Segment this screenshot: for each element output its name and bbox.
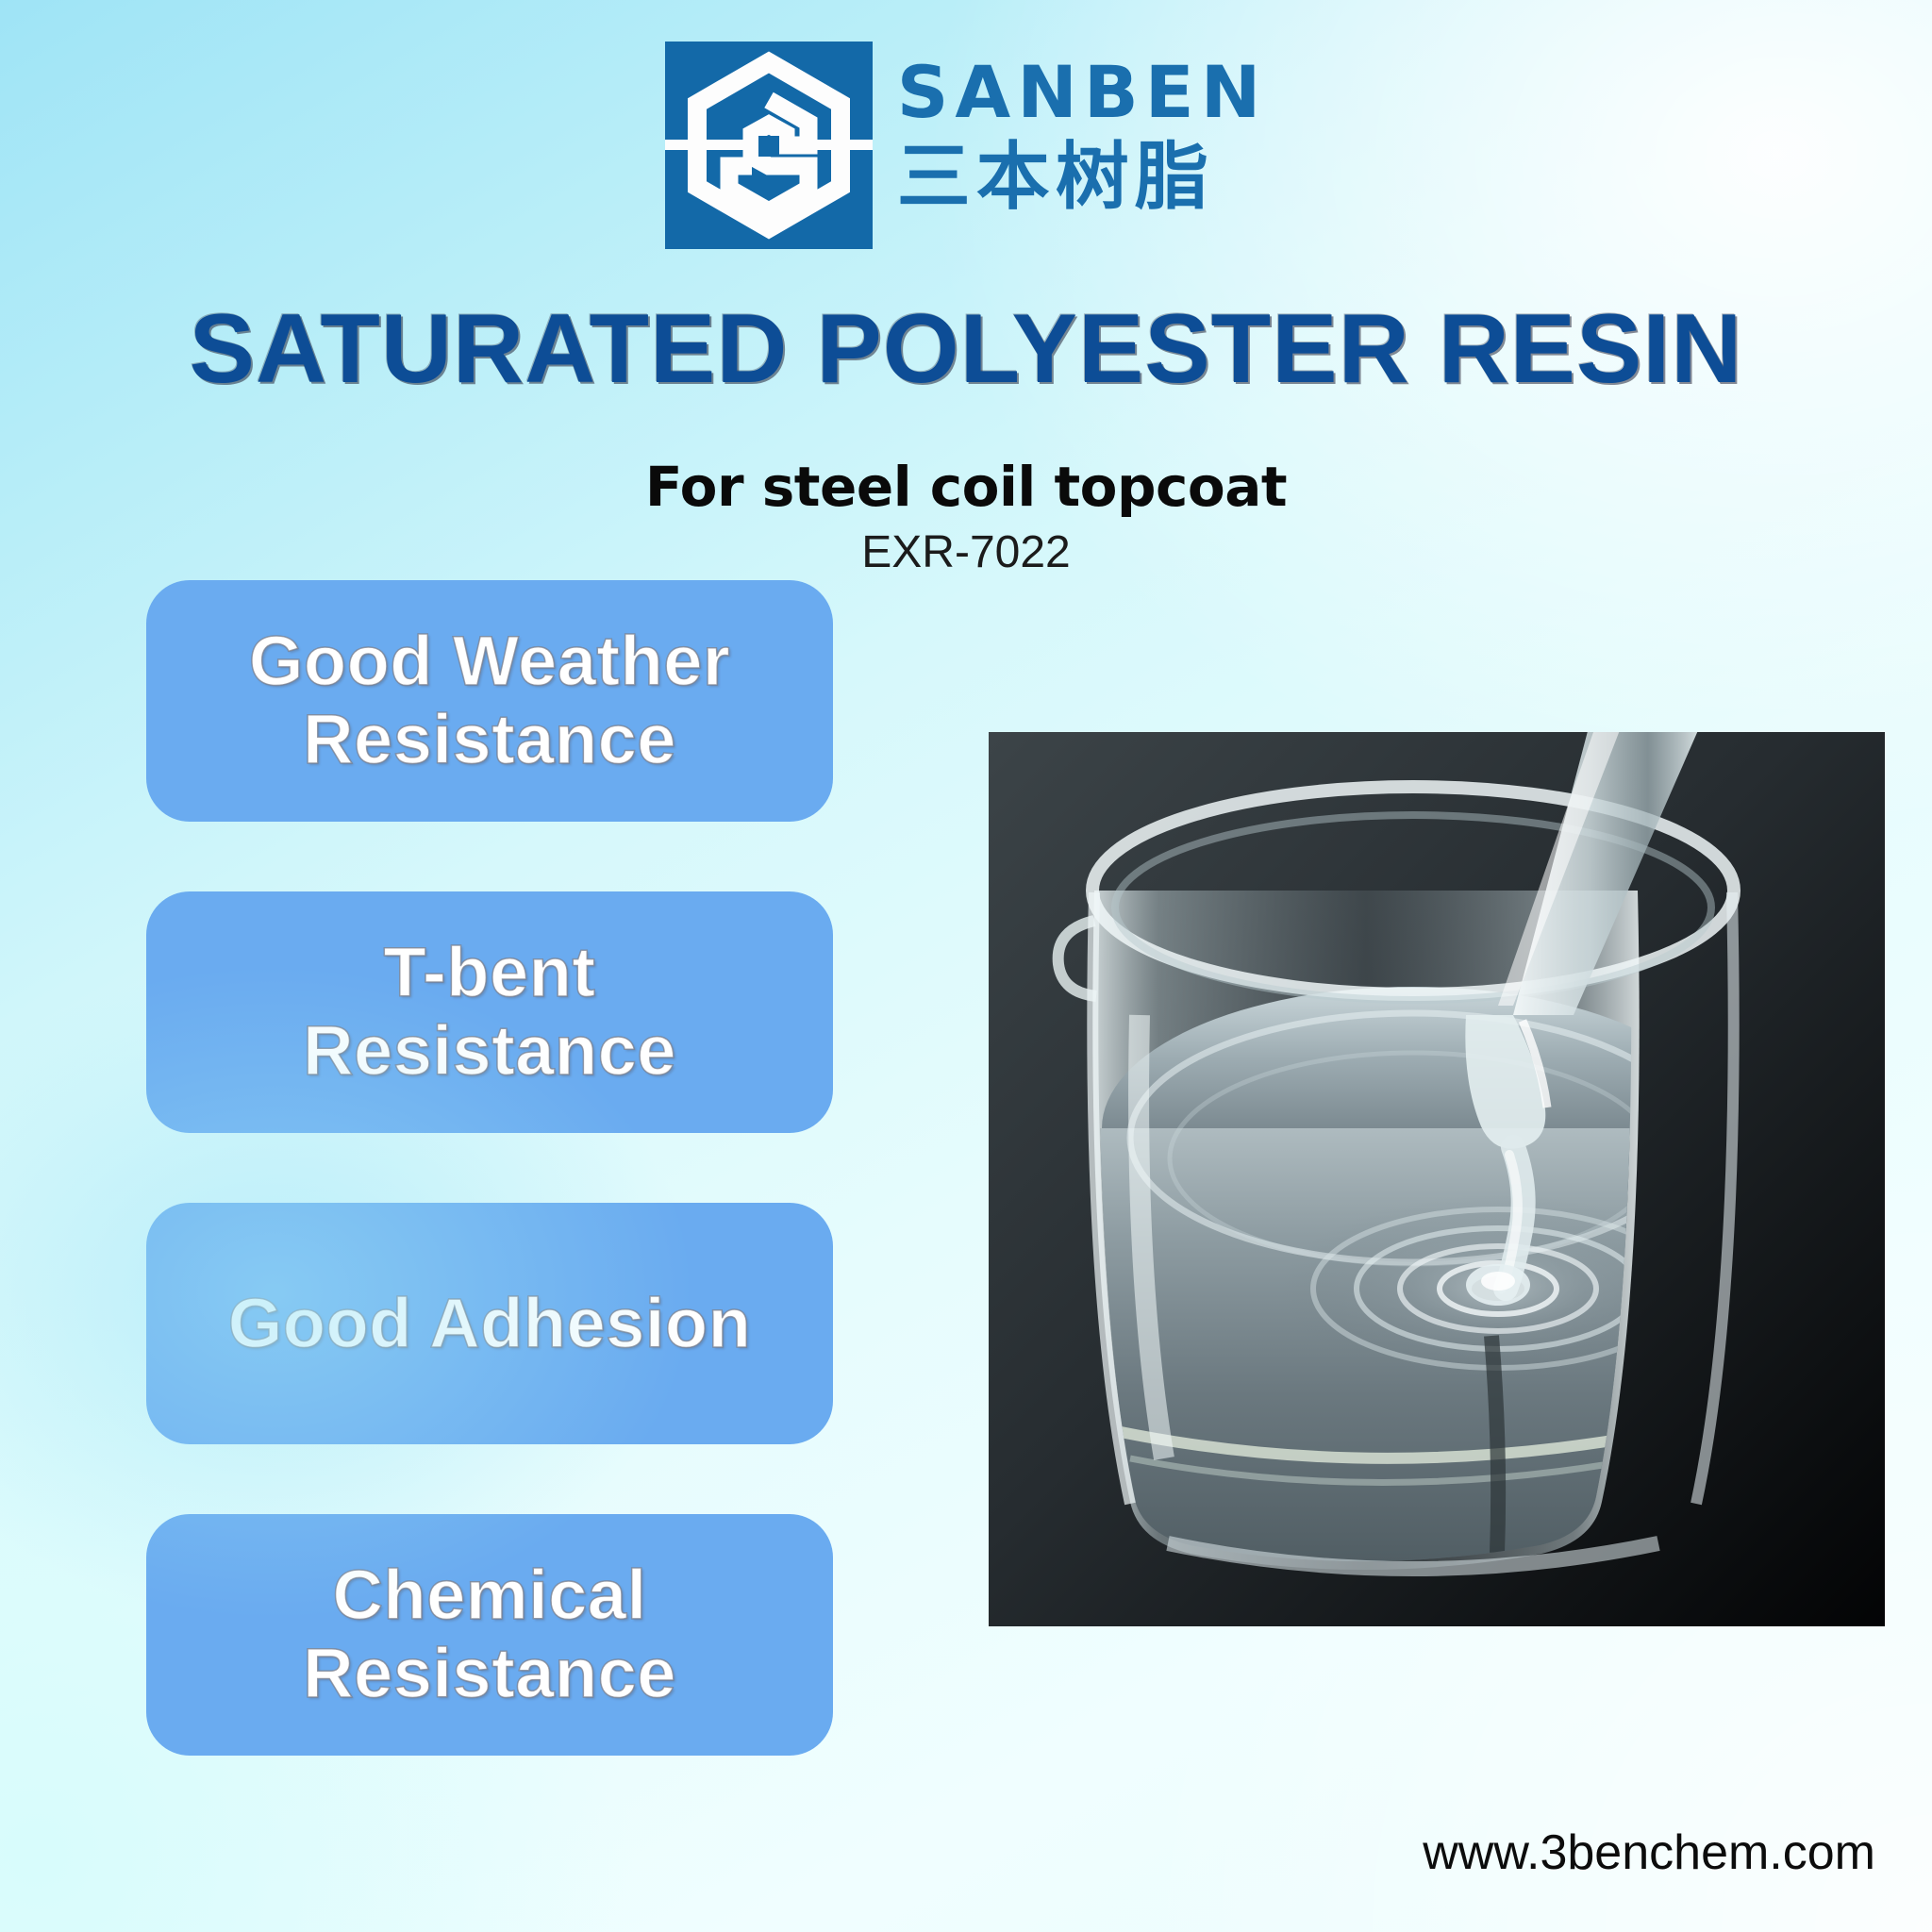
feature-box-t-bent-resistance: T-bent Resistance [146,891,833,1133]
feature-label: Good Weather Resistance [249,623,730,779]
page-subtitle: For steel coil topcoat [0,459,1932,514]
page-title: SATURATED POLYESTER RESIN [0,300,1932,398]
feature-label: Good Adhesion [228,1285,752,1363]
brand-chinese-name: 三本树脂 [897,136,1268,221]
feature-list: Good Weather Resistance T-bent Resistanc… [146,580,833,1825]
product-code: EXR-7022 [0,530,1932,575]
feature-label: T-bent Resistance [303,934,676,1091]
brand-wordmark: SANBEN 三本树脂 [897,42,1268,221]
feature-box-chemical-resistance: Chemical Resistance [146,1514,833,1756]
website-url: www.3benchem.com [1423,1828,1875,1877]
feature-box-adhesion: Good Adhesion [146,1203,833,1444]
sanben-hexagon-logo-icon [665,42,873,249]
feature-label: Chemical Resistance [303,1557,676,1713]
feature-box-weather-resistance: Good Weather Resistance [146,580,833,822]
product-photo [989,732,1885,1626]
brand-latin-name: SANBEN [897,57,1268,128]
beaker-resin-illustration [989,732,1885,1626]
poster-canvas: SANBEN 三本树脂 SATURATED POLYESTER RESIN Fo… [0,0,1932,1932]
brand-logo-block: SANBEN 三本树脂 [0,42,1932,249]
